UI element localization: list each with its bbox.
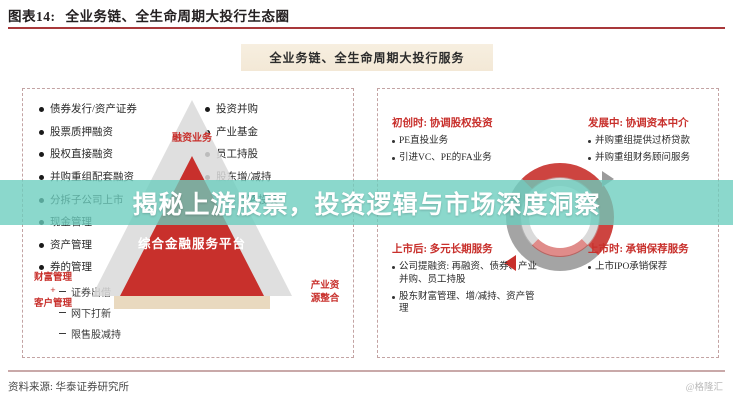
bullet-icon	[39, 243, 44, 248]
quadrant-growth: 发展中: 协调资本中介 并购重组提供过桥贷款 并购重组财务顾问服务	[588, 115, 714, 169]
bullet-icon	[588, 140, 591, 143]
pyramid-bl-line1: 财富管理	[10, 272, 96, 285]
quadrant-startup: 初创时: 协调股权投资 PE直投业务 引进VC、PE的FA业务	[392, 115, 542, 169]
figure-number: 图表14:	[8, 9, 56, 24]
quadrant-list-item: 并购重组财务顾问服务	[588, 152, 714, 165]
pyramid-base-band	[114, 296, 270, 309]
list-item-label: 资产管理	[50, 239, 92, 252]
quadrant-list-item: 并购重组提供过桥贷款	[588, 135, 714, 148]
quadrant-item-label: 并购重组提供过桥贷款	[595, 135, 690, 148]
quadrant-item-label: 上市IPO承销保荐	[595, 261, 667, 274]
bullet-icon	[392, 157, 395, 160]
bullet-icon	[392, 296, 395, 299]
bullet-icon	[39, 152, 44, 157]
quadrant-list-item: PE直投业务	[392, 135, 542, 148]
figure-title-text: 全业务链、全生命周期大投行生态圈	[66, 9, 290, 24]
quadrant-post-listing: 上市后: 多元长期服务 公司提融资: 再融资、债券、产业并购、员工持股 股东财富…	[392, 241, 542, 320]
pyramid-bl-line2: 客户管理	[10, 298, 96, 311]
pyramid-inner-shape	[120, 156, 264, 296]
bullet-icon	[392, 140, 395, 143]
quadrant-list-item: 公司提融资: 再融资、债券、产业并购、员工持股	[392, 261, 542, 287]
bullet-icon	[392, 266, 395, 269]
footer-divider	[8, 370, 725, 372]
quadrant-list-item: 上市IPO承销保荐	[588, 261, 714, 274]
quadrant-list-item: 引进VC、PE的FA业务	[392, 152, 542, 165]
pyramid-bottom-right-label: 产业资 源整合	[288, 280, 362, 306]
quadrant-heading: 初创时: 协调股权投资	[392, 115, 542, 130]
quadrant-item-label: 引进VC、PE的FA业务	[399, 152, 492, 165]
overlay-headline: 揭秘上游股票，投资逻辑与市场深度洞察	[132, 185, 600, 221]
bullet-icon	[39, 130, 44, 135]
quadrant-heading: 发展中: 协调资本中介	[588, 115, 714, 130]
bullet-icon	[588, 157, 591, 160]
bullet-icon	[39, 107, 44, 112]
diagram-banner-label: 全业务链、全生命周期大投行服务	[269, 49, 464, 66]
title-divider	[8, 27, 725, 29]
quadrant-item-label: 公司提融资: 再融资、债券、产业并购、员工持股	[399, 261, 542, 287]
dash-icon	[59, 312, 66, 313]
watermark-label: @格隆汇	[686, 379, 723, 393]
quadrant-heading: 上市后: 多元长期服务	[392, 241, 542, 256]
quadrant-heading: 上市时: 承销保荐服务	[588, 241, 714, 256]
figure-page: 图表14:全业务链、全生命周期大投行生态圈 全业务链、全生命周期大投行服务 债券…	[0, 0, 733, 400]
pyramid-bottom-left-label: 财富管理 + 客户管理	[10, 272, 96, 310]
overlay-banner: 揭秘上游股票，投资逻辑与市场深度洞察	[0, 180, 733, 225]
pyramid-apex-label: 融资业务	[172, 133, 212, 145]
bullet-icon	[39, 265, 44, 270]
quadrant-item-label: 股东财富管理、增/减持、资产管理	[399, 291, 542, 317]
pyramid-br-line1: 产业资	[288, 280, 362, 293]
dash-icon	[59, 333, 66, 334]
quadrant-listing: 上市时: 承销保荐服务 上市IPO承销保荐	[588, 241, 714, 278]
diagram-banner: 全业务链、全生命周期大投行服务	[241, 44, 493, 71]
figure-title: 图表14:全业务链、全生命周期大投行生态圈	[8, 5, 290, 25]
quadrant-list-item: 股东财富管理、增/减持、资产管理	[392, 291, 542, 317]
pyramid-bl-plus: +	[10, 285, 96, 298]
quadrant-item-label: PE直投业务	[399, 135, 448, 148]
pyramid-core-label: 综合金融服务平台	[138, 236, 246, 252]
pyramid-br-line2: 源整合	[288, 293, 362, 306]
source-note: 资料来源: 华泰证券研究所	[8, 379, 129, 394]
bullet-icon	[588, 266, 591, 269]
quadrant-item-label: 并购重组财务顾问服务	[595, 152, 690, 165]
